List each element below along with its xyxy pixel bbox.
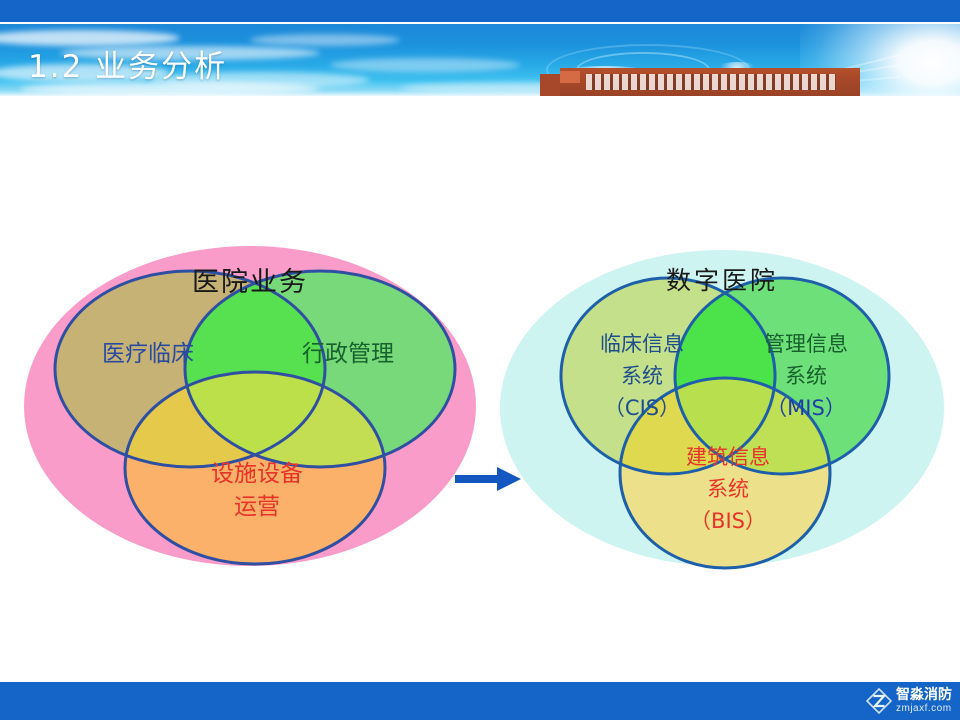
watermark-name: 智淼消防	[896, 688, 952, 702]
header-top-band	[0, 0, 960, 22]
watermark-url: zmjaxf.com	[896, 704, 952, 714]
cloud-icon	[250, 34, 400, 46]
venn-right-title: 数字医院	[666, 266, 778, 295]
venn-right-svg: 数字医院 临床信息 系统 （CIS） 管理信息 系统 （MIS） 建筑信息 系统…	[490, 236, 950, 576]
footer-bar: 智淼消防 zmjaxf.com	[0, 682, 960, 720]
label-cis-line2: 系统	[621, 364, 663, 388]
cloud-icon	[330, 58, 520, 72]
label-cis-line1: 临床信息	[600, 332, 684, 356]
diamond-z-logo-icon	[866, 688, 892, 714]
label-facility-equipment-line2: 运营	[234, 494, 280, 520]
watermark: 智淼消防 zmjaxf.com	[866, 685, 952, 717]
page-title: 1.2 业务分析	[28, 41, 227, 86]
label-mis-line2: 系统	[785, 364, 827, 388]
diagram-area: 医院业务 医疗临床 行政管理 设施设备 运营	[0, 96, 960, 656]
label-bis-abbr: （BIS）	[690, 509, 766, 533]
watermark-text: 智淼消防 zmjaxf.com	[896, 688, 952, 714]
label-facility-equipment-line1: 设施设备	[211, 461, 303, 487]
label-bis-line1: 建筑信息	[686, 445, 770, 469]
venn-left-title: 医院业务	[192, 267, 308, 298]
venn-diagram-digital-hospital: 数字医院 临床信息 系统 （CIS） 管理信息 系统 （MIS） 建筑信息 系统…	[490, 236, 950, 576]
slide-root: 1.2 业务分析	[0, 0, 960, 720]
building-silhouette-icon	[560, 68, 860, 96]
label-mis-abbr: （MIS）	[766, 396, 846, 420]
label-medical-clinical: 医疗临床	[102, 341, 194, 367]
label-mis-line1: 管理信息	[764, 332, 848, 356]
venn-left-svg: 医院业务 医疗临床 行政管理 设施设备 运营	[20, 236, 480, 576]
slide-header: 1.2 业务分析	[0, 0, 960, 96]
label-cis-abbr: （CIS）	[604, 396, 680, 420]
venn-diagram-hospital-business: 医院业务 医疗临床 行政管理 设施设备 运营	[20, 236, 480, 576]
label-bis-line2: 系统	[707, 477, 749, 501]
label-administrative-management: 行政管理	[302, 341, 394, 367]
